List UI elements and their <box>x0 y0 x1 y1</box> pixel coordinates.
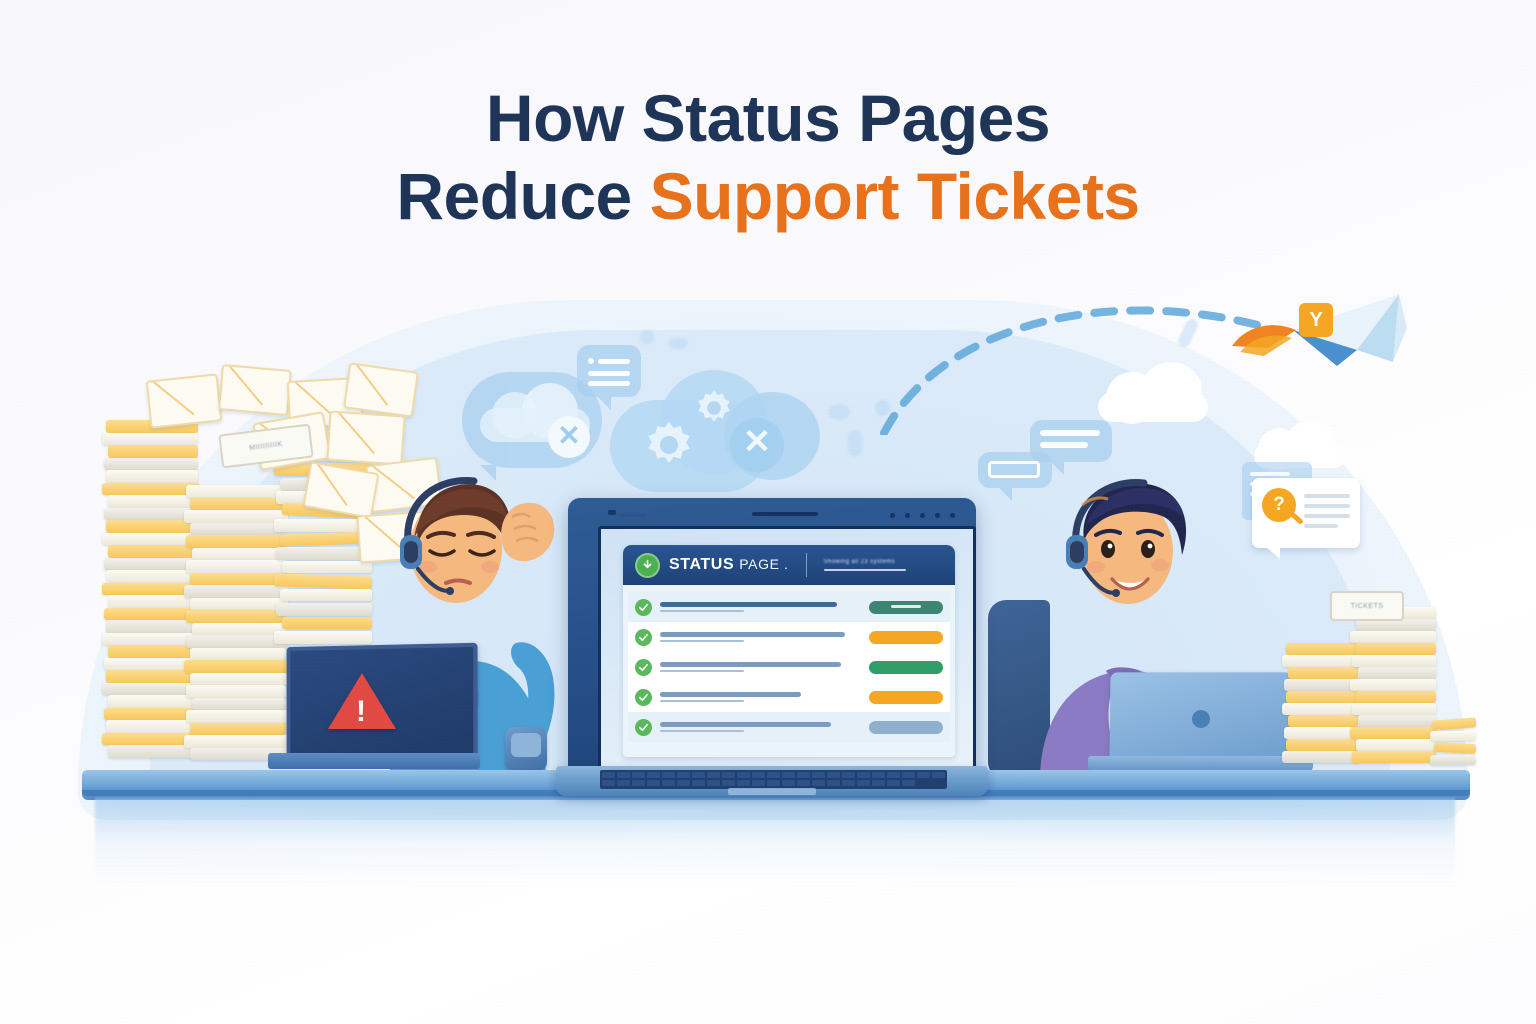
ticket-item <box>1350 631 1436 643</box>
ticket-item <box>186 485 286 498</box>
desk-device-top <box>511 733 541 757</box>
ticket-item <box>1286 691 1360 703</box>
keyboard-key[interactable] <box>602 772 616 778</box>
left-laptop-base <box>268 753 480 769</box>
ticket-item <box>1356 739 1436 751</box>
ticket-label-text: MIIIIIIIIIK <box>249 440 283 451</box>
keyboard-key[interactable] <box>737 780 751 786</box>
keyboard-key[interactable] <box>692 780 706 786</box>
ticket-item <box>108 445 198 458</box>
keyboard-key[interactable] <box>632 780 646 786</box>
keyboard-key[interactable] <box>797 780 811 786</box>
x-glyph: ✕ <box>730 422 784 462</box>
table-row[interactable] <box>628 592 950 622</box>
ticket-item <box>106 620 198 633</box>
row-label <box>660 632 861 643</box>
ticket-item <box>102 433 198 445</box>
desk-reflection <box>95 798 1455 888</box>
ticket-item <box>1350 679 1436 691</box>
keyboard-key[interactable] <box>887 780 901 786</box>
tickets-label-text: TICKETS <box>1350 603 1383 610</box>
keyboard-key[interactable] <box>872 772 886 778</box>
ticket-item <box>1282 751 1360 763</box>
ticket-item <box>190 573 286 585</box>
status-page-meta-text: Showing all 23 systems <box>824 559 943 565</box>
keyboard-key[interactable] <box>857 780 871 786</box>
warning-exclamation-glyph: ! <box>356 695 366 729</box>
center-laptop[interactable]: STATUS PAGE . Showing all 23 systems <box>556 498 988 798</box>
ticket-item <box>108 545 196 558</box>
bubble-line <box>598 359 630 364</box>
status-page-title-bold: STATUS <box>669 556 734 573</box>
keyboard-key[interactable] <box>827 772 841 778</box>
ticket-item <box>106 720 198 733</box>
ticket-item <box>1286 739 1360 751</box>
keyboard-key[interactable] <box>902 772 916 778</box>
ticket-item <box>184 585 288 598</box>
keyboard-key[interactable] <box>782 772 796 778</box>
status-badge <box>869 691 943 704</box>
keyboard-key[interactable] <box>872 780 886 786</box>
row-label-line <box>660 722 831 727</box>
page-title: How Status Pages Reduce Support Tickets <box>0 80 1536 236</box>
ticket-item <box>1282 703 1360 715</box>
ticket-item <box>1358 667 1436 679</box>
keyboard-key[interactable] <box>842 780 856 786</box>
ticket-item <box>186 610 286 623</box>
envelope-icon <box>218 364 292 416</box>
ticket-item <box>1352 655 1436 667</box>
help-card-line <box>1304 504 1350 508</box>
ticket-item <box>108 495 196 508</box>
table-row[interactable] <box>628 652 950 682</box>
bezel-accent <box>620 514 646 517</box>
ticket-item <box>186 535 286 548</box>
status-badge <box>869 661 943 674</box>
ticket-item <box>1356 691 1436 703</box>
ticket-item <box>1288 667 1358 679</box>
keyboard-key[interactable] <box>842 772 856 778</box>
title-line-2-orange: Support Tickets <box>650 159 1140 233</box>
laptop-screen: STATUS PAGE . Showing all 23 systems <box>598 526 976 772</box>
agent-head <box>1048 475 1208 625</box>
title-line-2: Reduce Support Tickets <box>0 158 1536 236</box>
row-sublabel-line <box>660 730 744 733</box>
bubble-line <box>588 358 594 364</box>
keyboard-key[interactable] <box>602 780 616 786</box>
check-circle-icon <box>635 719 652 736</box>
ticket-item <box>1352 703 1436 715</box>
ticket-item <box>184 510 288 523</box>
ticket-item <box>104 608 198 620</box>
ticket-item <box>192 623 286 635</box>
laptop-trackpad[interactable] <box>728 788 816 795</box>
ticket-item <box>190 498 286 510</box>
ticket-item <box>190 598 288 610</box>
ticket-item <box>1352 751 1436 763</box>
status-badge <box>869 721 943 734</box>
keyboard-key[interactable] <box>647 772 661 778</box>
table-row[interactable] <box>628 682 950 712</box>
ticket-item <box>108 645 196 658</box>
bubble-line <box>588 371 630 376</box>
header-divider <box>806 553 807 577</box>
check-circle-icon <box>635 659 652 676</box>
decor-blob <box>828 404 850 420</box>
envelope-icon <box>146 373 223 428</box>
right-laptop-logo <box>1192 710 1210 728</box>
ticket-item <box>1350 727 1436 739</box>
ticket-item <box>1432 717 1477 730</box>
title-line-1: How Status Pages <box>0 80 1536 158</box>
ticket-item <box>106 470 198 483</box>
keyboard-key[interactable] <box>737 772 751 778</box>
help-card-line <box>1304 514 1350 518</box>
row-label-line <box>660 692 801 697</box>
ticket-item <box>1356 643 1436 655</box>
agent-hand <box>492 495 562 569</box>
ticket-item <box>1358 715 1436 727</box>
keyboard-key[interactable] <box>902 780 916 786</box>
row-sublabel-line <box>660 640 744 643</box>
bezel-dot <box>950 513 955 518</box>
keyboard-key[interactable] <box>827 780 841 786</box>
row-label-line <box>660 662 841 667</box>
status-page-rows <box>623 585 955 747</box>
status-badge <box>869 601 943 614</box>
keyboard-key[interactable] <box>782 780 796 786</box>
keyboard-key[interactable] <box>722 780 736 786</box>
status-page-header: STATUS PAGE . Showing all 23 systems <box>623 545 955 585</box>
keyboard-key[interactable] <box>662 780 676 786</box>
keyboard-key[interactable] <box>677 772 691 778</box>
bezel-dot <box>920 513 925 518</box>
status-page-title-light: PAGE . <box>739 556 788 572</box>
row-label <box>660 692 861 703</box>
ticket-item <box>1434 742 1476 754</box>
keyboard-key[interactable] <box>662 772 676 778</box>
right-agent-laptop[interactable] <box>1088 672 1313 777</box>
illustration-canvas: ✕ ✕ Y <box>0 0 1536 1024</box>
row-label <box>660 722 861 733</box>
row-sublabel-line <box>660 610 744 613</box>
row-label-line <box>660 632 845 637</box>
keyboard-key[interactable] <box>917 772 931 778</box>
keyboard-key[interactable] <box>692 772 706 778</box>
tickets-label: TICKETS <box>1330 591 1404 621</box>
ticket-item <box>1288 715 1358 727</box>
keyboard-key[interactable] <box>812 772 826 778</box>
keyboard-key[interactable] <box>617 780 631 786</box>
bubble-line <box>1040 442 1088 448</box>
ticket-item <box>1284 727 1360 739</box>
envelope-icon <box>343 362 419 417</box>
keyboard-key[interactable] <box>767 772 781 778</box>
ticket-item <box>106 570 198 583</box>
camera-icon <box>608 510 616 515</box>
decor-blob <box>640 330 654 344</box>
ticket-item <box>1430 731 1476 741</box>
keyboard-key[interactable] <box>722 772 736 778</box>
decor-blob <box>848 430 862 456</box>
plane-badge-icon: Y <box>1299 303 1333 337</box>
laptop-lid: STATUS PAGE . Showing all 23 systems <box>568 498 976 780</box>
bezel-dot <box>890 513 895 518</box>
small-ticket-pile: TICKETS <box>1282 595 1482 775</box>
row-sublabel-line <box>660 700 744 703</box>
table-row[interactable] <box>628 622 950 652</box>
check-circle-icon <box>635 689 652 706</box>
check-circle-icon <box>635 629 652 646</box>
keyboard-key[interactable] <box>767 780 781 786</box>
decor-blob <box>668 338 688 349</box>
keyboard-key[interactable] <box>812 780 826 786</box>
keyboard-key[interactable] <box>617 772 631 778</box>
camera-slot <box>752 512 818 516</box>
keyboard-key[interactable] <box>707 780 721 786</box>
keyboard-key[interactable] <box>647 780 661 786</box>
ticket-item <box>1284 679 1360 691</box>
keyboard-key[interactable] <box>887 772 901 778</box>
status-badge <box>869 631 943 644</box>
status-page-app: STATUS PAGE . Showing all 23 systems <box>623 545 955 757</box>
keyboard-key[interactable] <box>632 772 646 778</box>
download-circle-icon <box>635 553 660 578</box>
keyboard-key[interactable] <box>857 772 871 778</box>
status-page-title: STATUS PAGE . <box>669 556 789 574</box>
row-label <box>660 662 861 673</box>
bezel-dot <box>935 513 940 518</box>
keyboard-key[interactable] <box>752 780 766 786</box>
ticket-item <box>104 558 198 570</box>
check-circle-icon <box>635 599 652 616</box>
row-label <box>660 602 861 613</box>
status-page-meta-rule <box>824 569 906 571</box>
keyboard-key[interactable] <box>677 780 691 786</box>
row-label-line <box>660 602 837 607</box>
x-glyph: ✕ <box>548 419 590 452</box>
ticket-item <box>1286 643 1358 655</box>
ticket-item <box>104 458 198 470</box>
keyboard-key[interactable] <box>797 772 811 778</box>
ticket-item <box>1430 755 1476 765</box>
row-sublabel-line <box>660 670 744 673</box>
ticket-item <box>190 523 286 535</box>
laptop-keyboard[interactable] <box>600 770 947 789</box>
status-page-meta: Showing all 23 systems <box>824 559 943 571</box>
keyboard-key[interactable] <box>707 772 721 778</box>
gear-icon <box>640 416 698 474</box>
keyboard-key[interactable] <box>932 772 946 778</box>
ticket-item <box>186 560 288 573</box>
bubble-line <box>588 381 630 386</box>
keyboard-key[interactable] <box>752 772 766 778</box>
ticket-item <box>192 548 286 560</box>
title-line-2-navy: Reduce <box>396 159 649 233</box>
ticket-item <box>104 708 198 720</box>
plane-trail-icon <box>1230 318 1300 362</box>
left-agent-laptop[interactable]: ! <box>268 645 480 775</box>
help-card-line <box>1304 494 1350 498</box>
table-row[interactable] <box>628 712 950 742</box>
ticket-item <box>1282 655 1360 667</box>
bezel-dot <box>905 513 910 518</box>
ticket-item <box>108 695 198 708</box>
